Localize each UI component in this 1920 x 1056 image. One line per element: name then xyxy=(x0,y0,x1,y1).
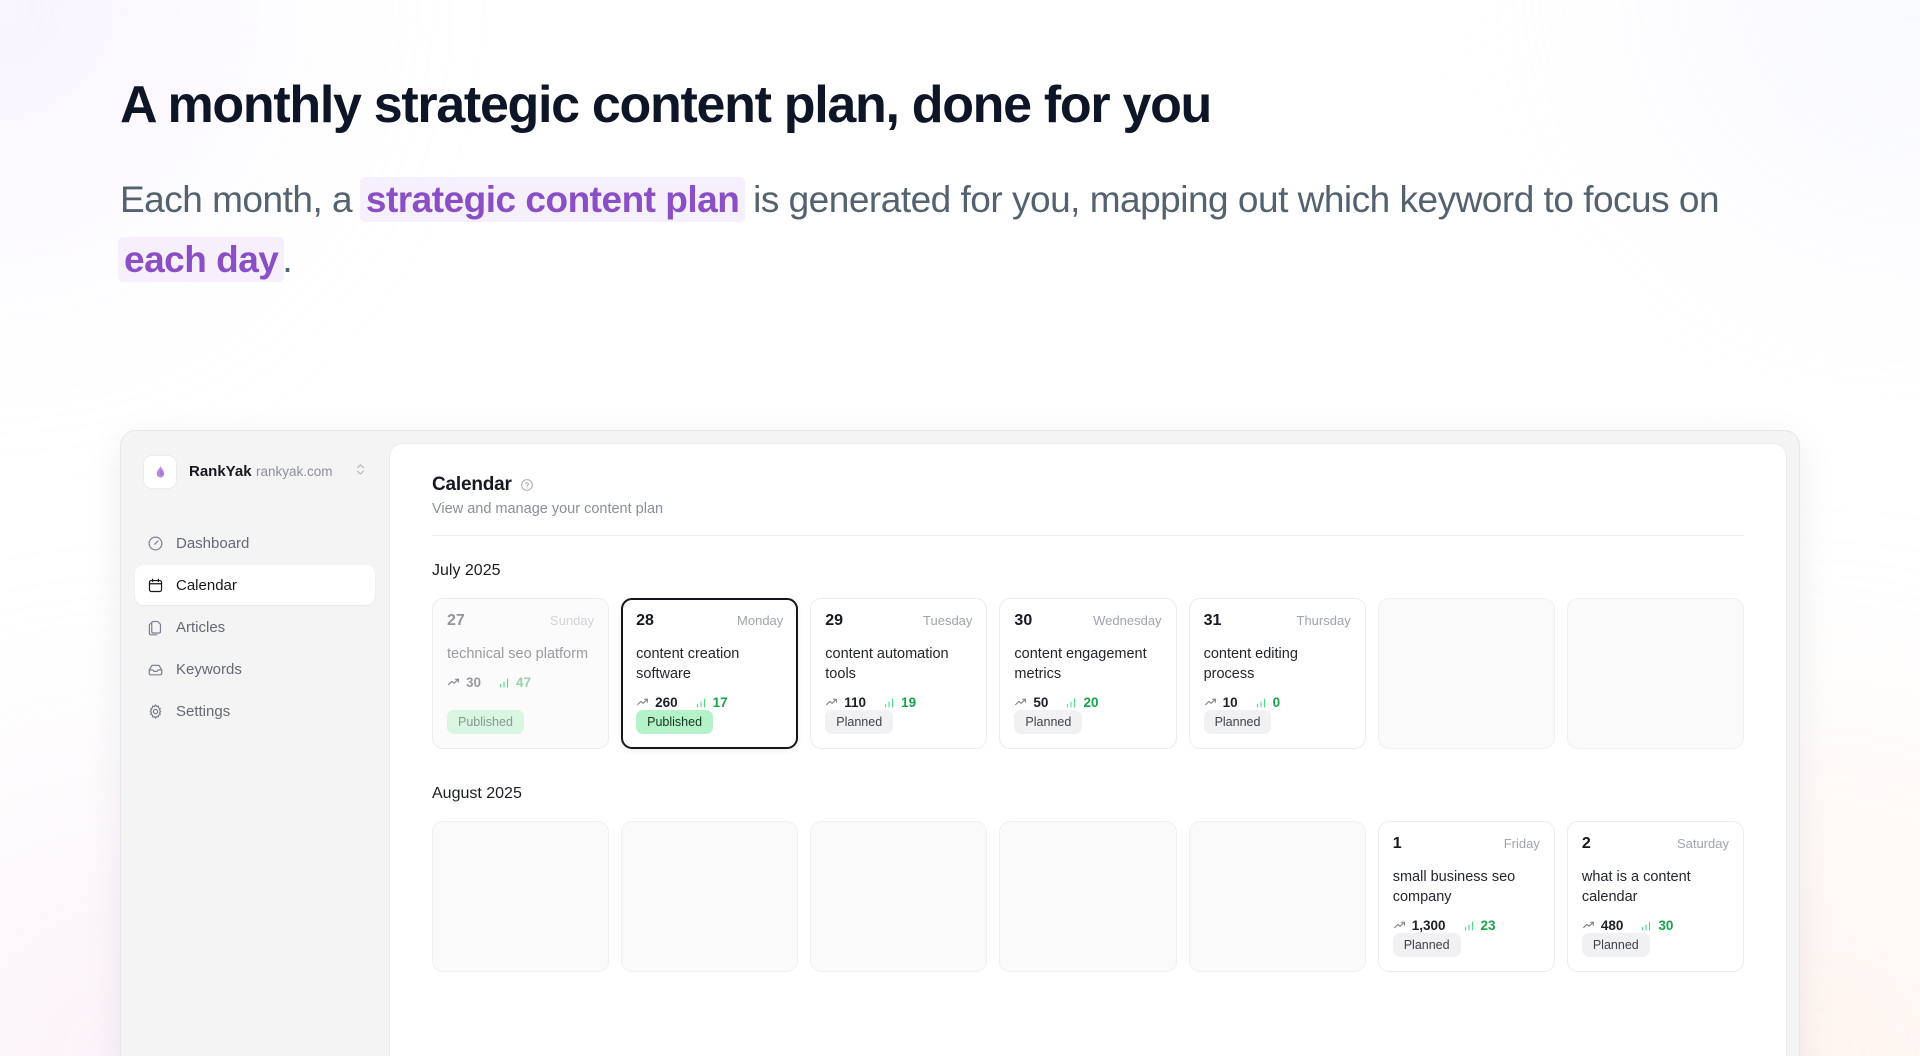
bar-chart-icon xyxy=(1463,920,1475,932)
help-circle-icon[interactable] xyxy=(520,478,534,492)
day-header: 28 Monday xyxy=(636,612,783,630)
metric-difficulty: 30 xyxy=(1640,918,1673,933)
sidebar-item-label: Keywords xyxy=(176,661,242,678)
metric-difficulty: 0 xyxy=(1255,695,1281,710)
day-metrics: 1,300 23 xyxy=(1393,918,1540,933)
metric-difficulty-value: 20 xyxy=(1083,695,1098,710)
metric-volume: 110 xyxy=(825,695,866,710)
metric-difficulty-value: 0 xyxy=(1273,695,1281,710)
sidebar-item-calendar[interactable]: Calendar xyxy=(135,565,375,605)
day-number: 30 xyxy=(1014,612,1032,630)
status-badge: Published xyxy=(636,710,713,734)
day-card[interactable]: 2 Saturday what is a content calendar 48… xyxy=(1567,821,1744,972)
day-card[interactable]: 1 Friday small business seo company 1,30… xyxy=(1378,821,1555,972)
status-badge: Planned xyxy=(1204,710,1272,734)
month-label-august: August 2025 xyxy=(432,785,1744,803)
bar-chart-icon xyxy=(695,697,707,709)
metric-volume-value: 30 xyxy=(466,675,481,690)
day-number: 1 xyxy=(1393,835,1402,853)
hero-subtitle-text-1: Each month, a xyxy=(120,179,362,220)
day-keyword: what is a content calendar xyxy=(1582,867,1729,907)
day-card[interactable]: 28 Monday content creation software 260 xyxy=(621,598,798,749)
day-weekday: Saturday xyxy=(1677,836,1729,851)
day-keyword: content automation tools xyxy=(825,644,972,684)
metric-difficulty: 20 xyxy=(1065,695,1098,710)
day-keyword: small business seo company xyxy=(1393,867,1540,907)
day-header: 27 Sunday xyxy=(447,612,594,630)
page-root: A monthly strategic content plan, done f… xyxy=(0,0,1920,290)
bar-chart-icon xyxy=(498,677,510,689)
metric-volume-value: 50 xyxy=(1033,695,1048,710)
metric-volume: 10 xyxy=(1204,695,1238,710)
metric-difficulty-value: 17 xyxy=(713,695,728,710)
day-keyword: content creation software xyxy=(636,644,783,684)
app-window-preview: RankYak rankyak.com xyxy=(120,430,1800,1056)
day-weekday: Monday xyxy=(737,613,783,628)
gauge-icon xyxy=(147,535,164,552)
gear-icon xyxy=(147,703,164,720)
day-metrics: 110 19 xyxy=(825,695,972,710)
sidebar: RankYak rankyak.com xyxy=(121,431,389,1056)
metric-difficulty-value: 30 xyxy=(1658,918,1673,933)
metric-volume: 30 xyxy=(447,675,481,690)
day-card-empty[interactable] xyxy=(1189,821,1366,972)
metric-difficulty: 17 xyxy=(695,695,728,710)
bar-chart-icon xyxy=(1255,697,1267,709)
day-weekday: Friday xyxy=(1504,836,1540,851)
metric-difficulty: 23 xyxy=(1463,918,1496,933)
day-header: 31 Thursday xyxy=(1204,612,1351,630)
page-title: A monthly strategic content plan, done f… xyxy=(120,76,1920,134)
metric-volume: 50 xyxy=(1014,695,1048,710)
day-card-empty[interactable] xyxy=(1378,598,1555,749)
trending-up-icon xyxy=(1582,919,1595,932)
sidebar-item-label: Articles xyxy=(176,619,225,636)
hero-highlight-strategic-content-plan: strategic content plan xyxy=(360,177,745,222)
day-card[interactable]: 30 Wednesday content engagement metrics … xyxy=(999,598,1176,749)
day-number: 2 xyxy=(1582,835,1591,853)
sidebar-item-label: Calendar xyxy=(176,577,237,594)
status-badge: Planned xyxy=(1393,933,1461,957)
metric-volume-value: 260 xyxy=(655,695,678,710)
metric-volume-value: 10 xyxy=(1223,695,1238,710)
bar-chart-icon xyxy=(1640,920,1652,932)
day-header: 30 Wednesday xyxy=(1014,612,1161,630)
panel-header: Calendar View and manage your content pl… xyxy=(432,474,1744,536)
day-weekday: Tuesday xyxy=(923,613,972,628)
calendar-icon xyxy=(147,577,164,594)
sidebar-item-keywords[interactable]: Keywords xyxy=(135,649,375,689)
sidebar-item-settings[interactable]: Settings xyxy=(135,691,375,731)
day-metrics: 30 47 xyxy=(447,675,594,690)
metric-volume-value: 1,300 xyxy=(1412,918,1446,933)
day-header: 1 Friday xyxy=(1393,835,1540,853)
day-card-empty[interactable] xyxy=(999,821,1176,972)
trending-up-icon xyxy=(1204,696,1217,709)
day-weekday: Thursday xyxy=(1297,613,1351,628)
day-number: 28 xyxy=(636,612,654,630)
status-badge: Published xyxy=(447,710,524,734)
bar-chart-icon xyxy=(1065,697,1077,709)
day-weekday: Wednesday xyxy=(1093,613,1161,628)
trending-up-icon xyxy=(636,696,649,709)
day-number: 27 xyxy=(447,612,465,630)
sidebar-nav: Dashboard Calendar xyxy=(135,523,375,731)
calendar-week-july: 27 Sunday technical seo platform 30 xyxy=(432,598,1744,749)
trending-up-icon xyxy=(447,676,460,689)
hero-subtitle-text-2: is generated for you, mapping out which … xyxy=(743,179,1719,220)
panel-subtitle: View and manage your content plan xyxy=(432,501,1744,517)
day-keyword: content editing process xyxy=(1204,644,1351,684)
day-card-empty[interactable] xyxy=(432,821,609,972)
org-switcher[interactable]: RankYak rankyak.com xyxy=(135,447,375,497)
metric-volume-value: 110 xyxy=(844,695,866,710)
metric-volume: 1,300 xyxy=(1393,918,1446,933)
metric-difficulty: 47 xyxy=(498,675,531,690)
sidebar-item-label: Settings xyxy=(176,703,230,720)
status-badge: Planned xyxy=(825,710,893,734)
day-card-empty[interactable] xyxy=(810,821,987,972)
day-number: 31 xyxy=(1204,612,1222,630)
org-name: RankYak xyxy=(189,463,252,480)
panel-title-row: Calendar xyxy=(432,474,1744,496)
org-domain: rankyak.com xyxy=(256,464,333,479)
day-header: 29 Tuesday xyxy=(825,612,972,630)
day-metrics: 260 17 xyxy=(636,695,783,710)
day-metrics: 10 0 xyxy=(1204,695,1351,710)
metric-difficulty: 19 xyxy=(883,695,916,710)
day-keyword: technical seo platform xyxy=(447,644,594,664)
documents-icon xyxy=(147,619,164,636)
metric-volume: 480 xyxy=(1582,918,1624,933)
org-text: RankYak rankyak.com xyxy=(189,463,342,482)
day-card-empty[interactable] xyxy=(1567,598,1744,749)
metric-volume: 260 xyxy=(636,695,678,710)
sidebar-item-dashboard[interactable]: Dashboard xyxy=(135,523,375,563)
bar-chart-icon xyxy=(883,697,895,709)
trending-up-icon xyxy=(1014,696,1027,709)
hero-subtitle-text-3: . xyxy=(282,239,292,280)
day-number: 29 xyxy=(825,612,843,630)
metric-difficulty-value: 47 xyxy=(516,675,531,690)
trending-up-icon xyxy=(1393,919,1406,932)
calendar-week-august: 1 Friday small business seo company 1,30… xyxy=(432,821,1744,972)
sidebar-item-label: Dashboard xyxy=(176,535,249,552)
metric-difficulty-value: 19 xyxy=(901,695,916,710)
hero-subtitle: Each month, a strategic content plan is … xyxy=(120,170,1770,290)
day-metrics: 480 30 xyxy=(1582,918,1729,933)
status-badge: Planned xyxy=(1582,933,1650,957)
status-badge: Planned xyxy=(1014,710,1082,734)
day-metrics: 50 20 xyxy=(1014,695,1161,710)
day-weekday: Sunday xyxy=(550,613,594,628)
chevron-up-down-icon[interactable] xyxy=(354,462,367,482)
hero-highlight-each-day: each day xyxy=(118,237,284,282)
main-panel: Calendar View and manage your content pl… xyxy=(389,443,1787,1056)
metric-volume-value: 480 xyxy=(1601,918,1624,933)
day-card[interactable]: 29 Tuesday content automation tools 110 xyxy=(810,598,987,749)
rankyak-logo-icon xyxy=(143,455,177,489)
hero-section: A monthly strategic content plan, done f… xyxy=(0,0,1920,290)
day-keyword: content engagement metrics xyxy=(1014,644,1161,684)
metric-difficulty-value: 23 xyxy=(1481,918,1496,933)
month-label-july: July 2025 xyxy=(432,562,1744,580)
day-card[interactable]: 31 Thursday content editing process 10 xyxy=(1189,598,1366,749)
day-header: 2 Saturday xyxy=(1582,835,1729,853)
trending-up-icon xyxy=(825,696,838,709)
day-card[interactable]: 27 Sunday technical seo platform 30 xyxy=(432,598,609,749)
inbox-icon xyxy=(147,661,164,678)
sidebar-item-articles[interactable]: Articles xyxy=(135,607,375,647)
day-card-empty[interactable] xyxy=(621,821,798,972)
panel-title: Calendar xyxy=(432,474,512,496)
